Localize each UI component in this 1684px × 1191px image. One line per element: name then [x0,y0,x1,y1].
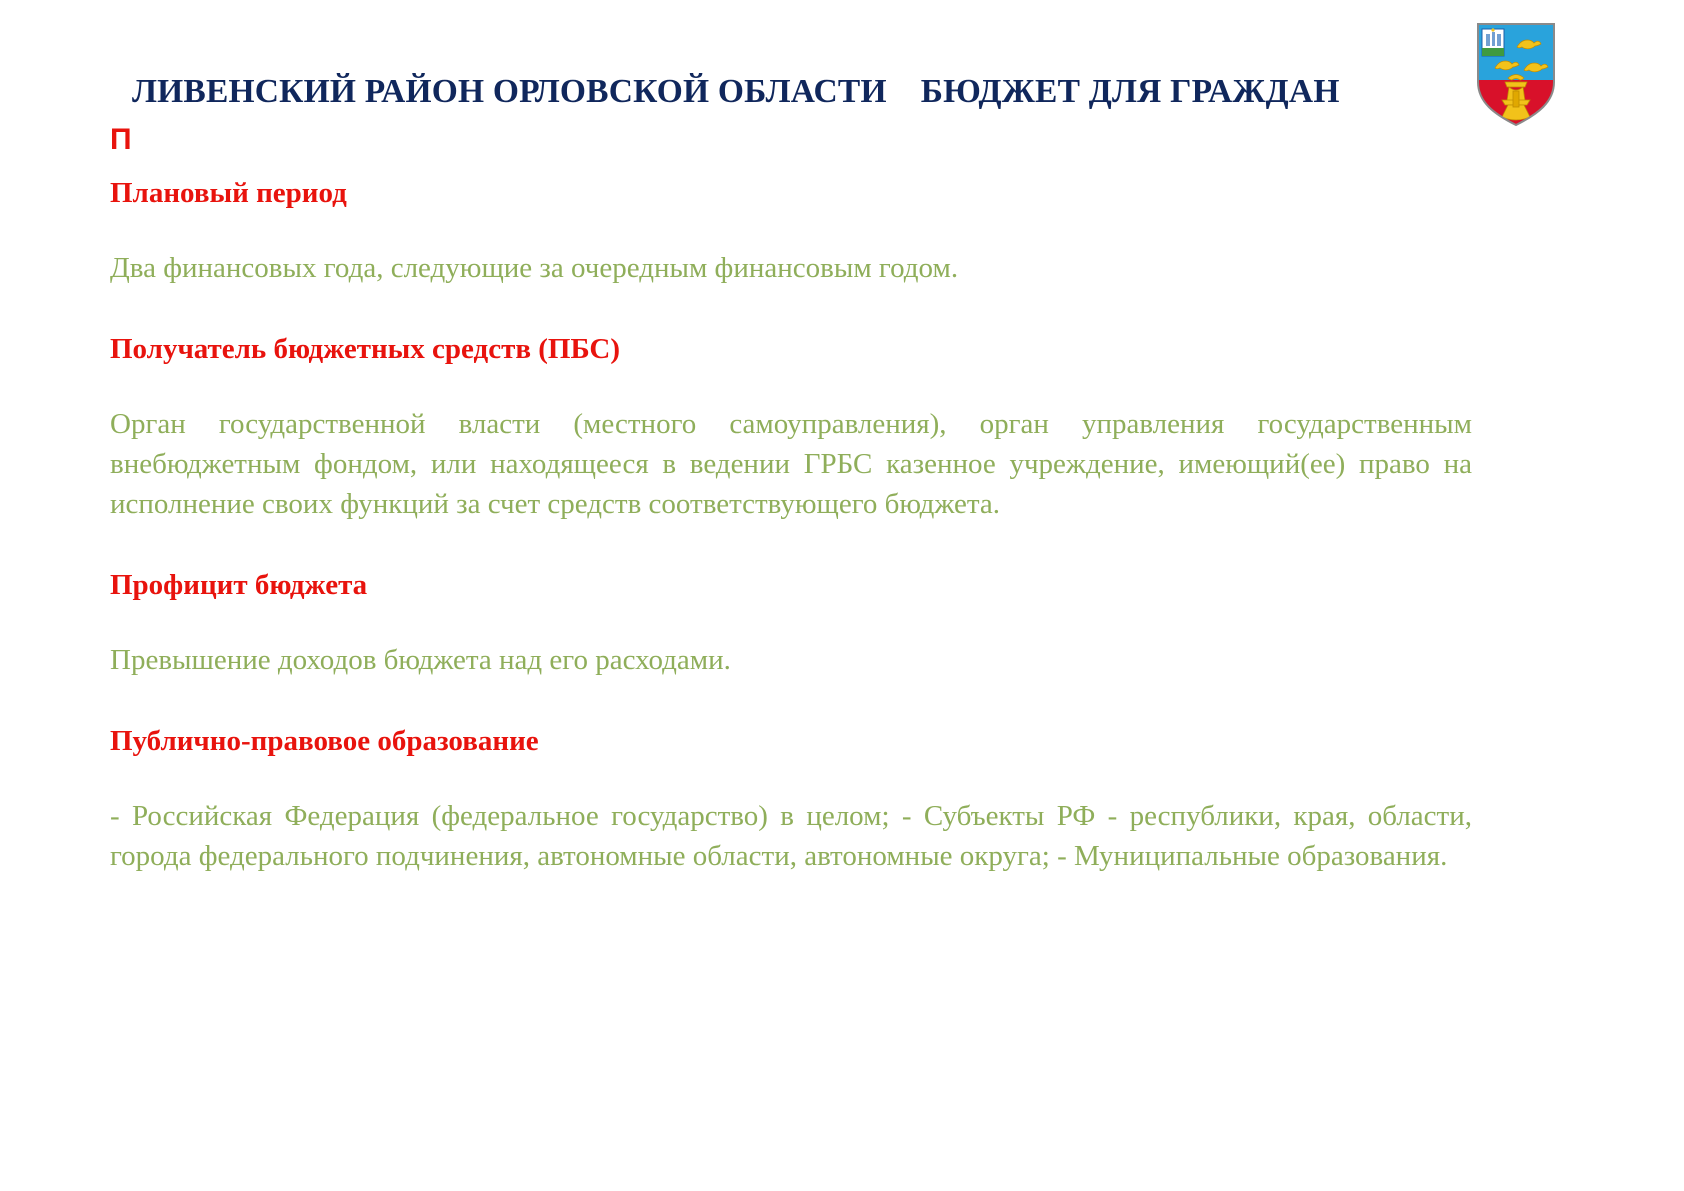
spacer [110,366,1472,404]
section-heading-proficit-byudzheta: Профицит бюджета [110,568,1472,602]
page-title: ЛИВЕНСКИЙ РАЙОН ОРЛОВСКОЙ ОБЛАСТИБЮДЖЕТ … [132,72,1372,112]
spacer [110,602,1472,640]
spacer [110,288,1472,332]
spacer [110,210,1472,248]
spacer [110,758,1472,796]
section-body-publichno-pravovoe: - Российская Федерация (федеральное госу… [110,796,1472,876]
header-doc-title: БЮДЖЕТ ДЛЯ ГРАЖДАН [921,73,1340,110]
section-heading-planovy-period: Плановый период [110,176,1472,210]
coat-of-arms-icon [1472,20,1560,130]
content-column: П Плановый период Два финансовых года, с… [110,122,1472,876]
section-body-proficit-byudzheta: Превышение доходов бюджета над его расхо… [110,640,1472,680]
stray-letter-p: П [110,122,1472,158]
slide-page: ЛИВЕНСКИЙ РАЙОН ОРЛОВСКОЙ ОБЛАСТИБЮДЖЕТ … [0,0,1684,1191]
section-body-planovy-period: Два финансовых года, следующие за очеред… [110,248,1472,288]
spacer [110,680,1472,724]
spacer [110,524,1472,568]
header-region-title: ЛИВЕНСКИЙ РАЙОН ОРЛОВСКОЙ ОБЛАСТИ [132,73,887,110]
section-body-poluchatel-sredstv: Орган государственной власти (местного с… [110,404,1472,524]
section-heading-poluchatel-sredstv: Получатель бюджетных средств (ПБС) [110,332,1472,366]
section-heading-publichno-pravovoe: Публично-правовое образование [110,724,1472,758]
